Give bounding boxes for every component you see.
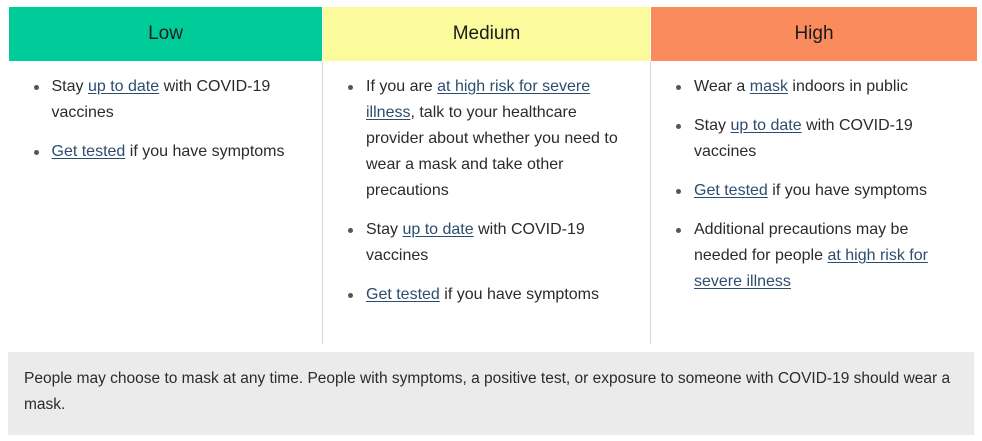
recommendation-item: Stay up to date with COVID-19 vaccines (665, 113, 964, 165)
footnote-text: People may choose to mask at any time. P… (24, 370, 950, 413)
column-header-high: High (651, 7, 978, 61)
recommendation-item: If you are at high risk for severe illne… (337, 74, 636, 204)
recommendation-link[interactable]: at high risk for severe illness (694, 247, 928, 290)
recommendation-link[interactable]: Get tested (52, 143, 126, 160)
recommendation-link[interactable]: Get tested (366, 286, 440, 303)
recommendation-item: Get tested if you have symptoms (23, 139, 309, 165)
recommendations-table: Low Medium High Stay up to date with COV… (8, 7, 978, 344)
footnote-banner: People may choose to mask at any time. P… (8, 352, 974, 435)
table-body-row: Stay up to date with COVID-19 vaccinesGe… (9, 61, 978, 344)
recommendation-item: Get tested if you have symptoms (665, 178, 964, 204)
recommendation-link[interactable]: up to date (88, 78, 159, 95)
cell-high: Wear a mask indoors in publicStay up to … (651, 61, 978, 344)
column-header-medium: Medium (323, 7, 651, 61)
cell-medium: If you are at high risk for severe illne… (323, 61, 651, 344)
table-header-row: Low Medium High (9, 7, 978, 61)
recommendation-list-high: Wear a mask indoors in publicStay up to … (651, 61, 978, 295)
table-body: Stay up to date with COVID-19 vaccinesGe… (9, 61, 978, 344)
recommendation-item: Wear a mask indoors in public (665, 74, 964, 100)
recommendation-list-low: Stay up to date with COVID-19 vaccinesGe… (9, 61, 323, 165)
recommendation-list-medium: If you are at high risk for severe illne… (323, 61, 650, 308)
covid-community-levels-table: Low Medium High Stay up to date with COV… (0, 0, 982, 441)
recommendation-item: Stay up to date with COVID-19 vaccines (337, 217, 636, 269)
recommendation-link[interactable]: up to date (402, 221, 473, 238)
recommendation-link[interactable]: up to date (730, 117, 801, 134)
recommendation-link[interactable]: at high risk for severe illness (366, 78, 590, 121)
recommendation-link[interactable]: Get tested (694, 182, 768, 199)
recommendation-item: Stay up to date with COVID-19 vaccines (23, 74, 309, 126)
recommendation-item: Get tested if you have symptoms (337, 282, 636, 308)
column-header-low: Low (9, 7, 323, 61)
recommendation-item: Additional precautions may be needed for… (665, 217, 964, 295)
table-header-row-group: Low Medium High (9, 7, 978, 61)
recommendation-link[interactable]: mask (750, 78, 788, 95)
cell-low: Stay up to date with COVID-19 vaccinesGe… (9, 61, 323, 344)
